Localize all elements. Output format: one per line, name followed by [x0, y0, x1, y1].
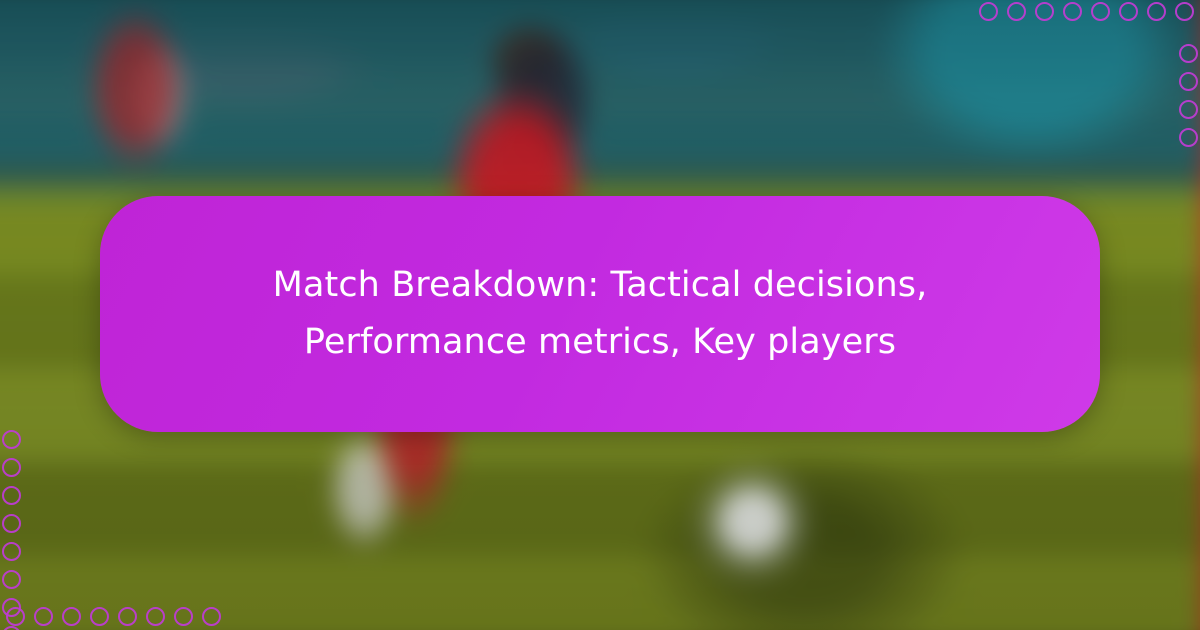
circle-icon — [1007, 2, 1026, 21]
circle-icon — [979, 2, 998, 21]
circle-icon — [146, 607, 165, 626]
decorative-dots-bottom-left — [6, 607, 221, 626]
banner-canvas: Match Breakdown: Tactical decisions, Per… — [0, 0, 1200, 630]
circle-icon — [1179, 72, 1198, 91]
circle-icon — [2, 626, 21, 630]
circle-icon — [62, 607, 81, 626]
circle-icon — [174, 607, 193, 626]
circle-icon — [1179, 100, 1198, 119]
circle-icon — [118, 607, 137, 626]
decorative-dots-top-right — [979, 2, 1194, 21]
circle-icon — [1179, 44, 1198, 63]
circle-icon — [2, 542, 21, 561]
circle-icon — [1035, 2, 1054, 21]
circle-icon — [34, 607, 53, 626]
circle-icon — [2, 458, 21, 477]
circle-icon — [2, 486, 21, 505]
circle-icon — [1147, 2, 1166, 21]
circle-icon — [2, 570, 21, 589]
decorative-dots-left — [2, 430, 21, 630]
circle-icon — [2, 430, 21, 449]
circle-icon — [202, 607, 221, 626]
circle-icon — [2, 514, 21, 533]
banner-title: Match Breakdown: Tactical decisions, Per… — [250, 257, 950, 370]
title-card: Match Breakdown: Tactical decisions, Per… — [100, 196, 1100, 432]
circle-icon — [1119, 2, 1138, 21]
circle-icon — [1179, 128, 1198, 147]
circle-icon — [1175, 2, 1194, 21]
decorative-dots-right — [1179, 44, 1198, 147]
circle-icon — [1063, 2, 1082, 21]
circle-icon — [6, 607, 25, 626]
circle-icon — [1091, 2, 1110, 21]
circle-icon — [90, 607, 109, 626]
